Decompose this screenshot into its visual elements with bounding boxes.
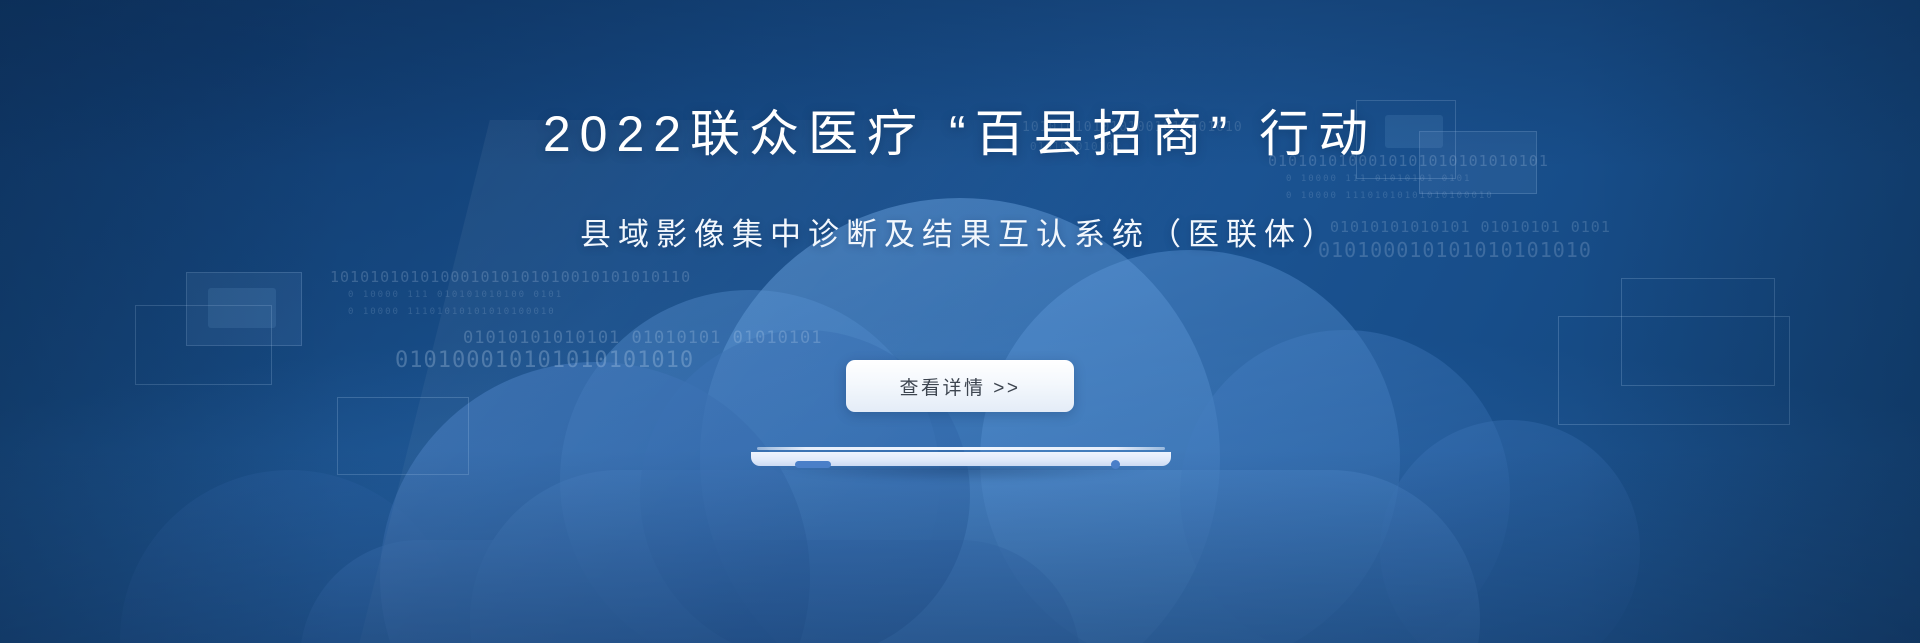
device-shadow xyxy=(771,467,1151,483)
device-body xyxy=(751,452,1171,466)
front-camera-icon xyxy=(1111,460,1120,469)
banner-subtitle: 县域影像集中诊断及结果互认系统（医联体） xyxy=(0,215,1920,255)
view-details-button[interactable]: 查看详情 >> xyxy=(846,360,1074,412)
promo-banner: 101010101010001010101010010101010110 0 1… xyxy=(0,0,1920,643)
edge-vignette xyxy=(0,0,1920,643)
speaker-grille-icon xyxy=(795,461,831,468)
device-screen-edge xyxy=(757,447,1165,450)
cta-container: 查看详情 >> xyxy=(0,360,1920,412)
tablet-device-graphic xyxy=(751,447,1171,471)
banner-title: 2022联众医疗 “百县招商” 行动 xyxy=(0,104,1920,164)
